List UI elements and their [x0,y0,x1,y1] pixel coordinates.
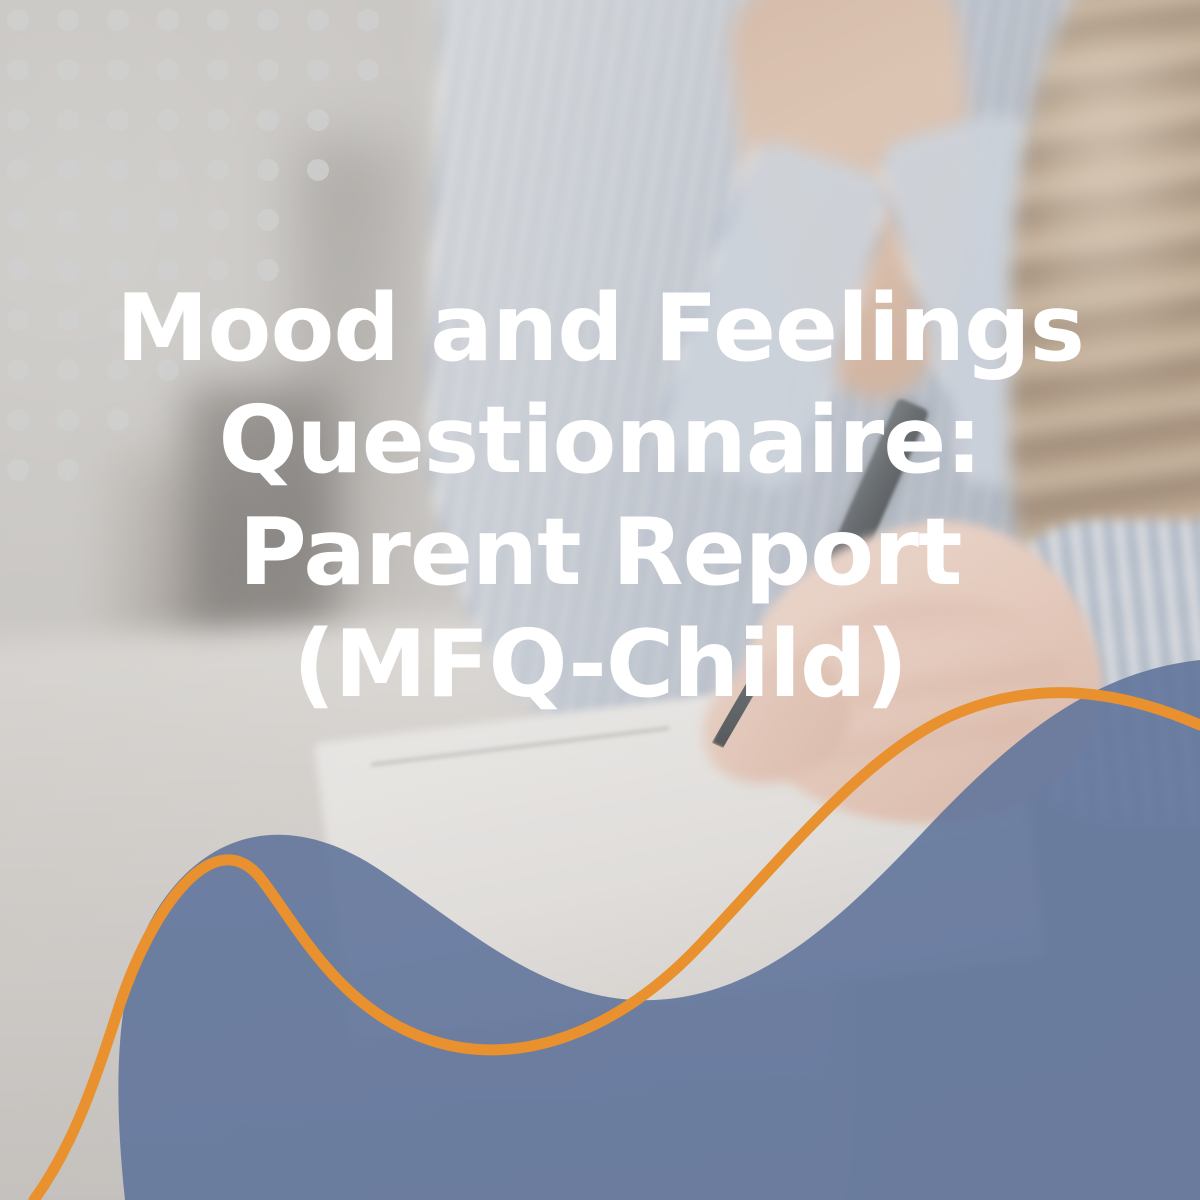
title-line-4: (MFQ-Child) [60,608,1140,720]
title-line-2: Questionnaire: [60,384,1140,496]
title-line-1: Mood and Feelings [60,272,1140,384]
page-title: Mood and Feelings Questionnaire: Parent … [0,272,1200,720]
promo-card: Mood and Feelings Questionnaire: Parent … [0,0,1200,1200]
title-line-3: Parent Report [60,496,1140,608]
